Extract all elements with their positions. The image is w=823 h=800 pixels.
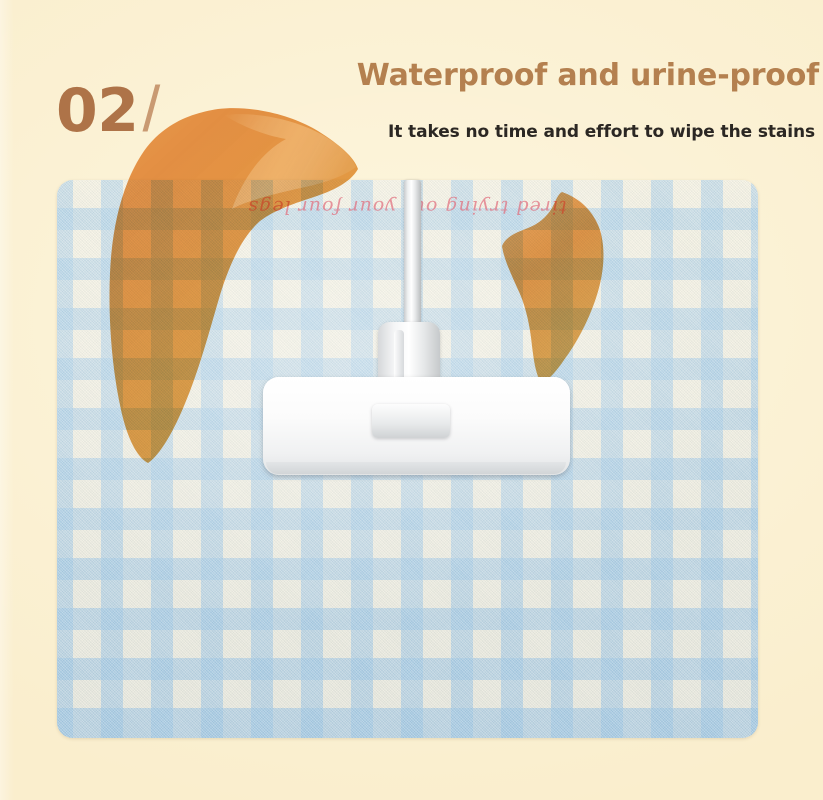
- feature-title: Waterproof and urine-proof: [357, 58, 819, 93]
- gingham-pattern: [57, 180, 758, 738]
- feature-subtitle: It takes no time and effort to wipe the …: [388, 122, 815, 142]
- step-number: 02 /: [56, 77, 160, 141]
- header: 02 / Waterproof and urine-proof It takes…: [0, 0, 823, 175]
- step-number-value: 02: [56, 81, 139, 141]
- product-feature-slide: 02 / Waterproof and urine-proof It takes…: [0, 0, 823, 800]
- product-photo: [57, 180, 758, 738]
- step-number-slash: /: [143, 77, 161, 141]
